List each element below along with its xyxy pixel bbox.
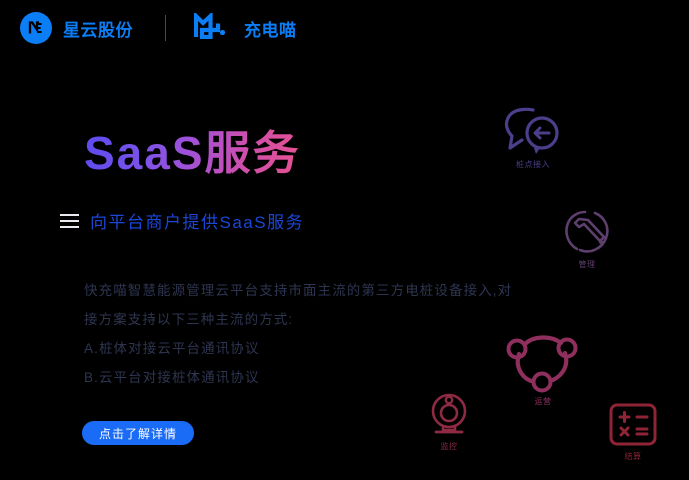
- page-title: SaaS服务: [84, 128, 301, 179]
- subtitle-row: 向平台商户提供SaaS服务: [60, 208, 304, 233]
- feature-operations: 运营: [503, 327, 583, 407]
- camera-monitor-icon: [427, 392, 471, 438]
- feature-monitoring: 监控: [427, 392, 471, 452]
- chat-bubbles-icon: [500, 104, 566, 156]
- feature-chat-access: 桩点接入: [500, 104, 566, 170]
- charging-cat-logo-icon: [194, 13, 236, 44]
- page-header: 星云股份 充电喵: [0, 0, 689, 56]
- feature-settlement: 结算: [607, 401, 659, 462]
- feature-label: 结算: [625, 451, 642, 462]
- brand-secondary[interactable]: 充电喵: [194, 13, 297, 44]
- brand-primary-name: 星云股份: [63, 16, 133, 41]
- feature-management: 管理: [562, 208, 612, 270]
- learn-more-button[interactable]: 点击了解详情: [82, 421, 194, 445]
- calculator-icon: [607, 401, 659, 448]
- feature-label: 监控: [441, 441, 458, 452]
- feature-label: 管理: [579, 259, 596, 270]
- network-share-icon: [503, 327, 583, 393]
- header-divider: [165, 15, 166, 41]
- nebula-circle-logo-icon: [20, 12, 52, 44]
- wrench-gear-icon: [562, 208, 612, 256]
- body-line: 快充喵智慧能源管理云平台支持市面主流的第三方电桩设备接入,对: [84, 276, 579, 305]
- feature-label: 运营: [535, 396, 552, 407]
- brand-primary[interactable]: 星云股份: [20, 12, 133, 44]
- feature-label: 桩点接入: [516, 159, 550, 170]
- hamburger-lines-icon: [60, 214, 79, 228]
- brand-secondary-name: 充电喵: [244, 16, 297, 41]
- page-subtitle: 向平台商户提供SaaS服务: [90, 208, 304, 233]
